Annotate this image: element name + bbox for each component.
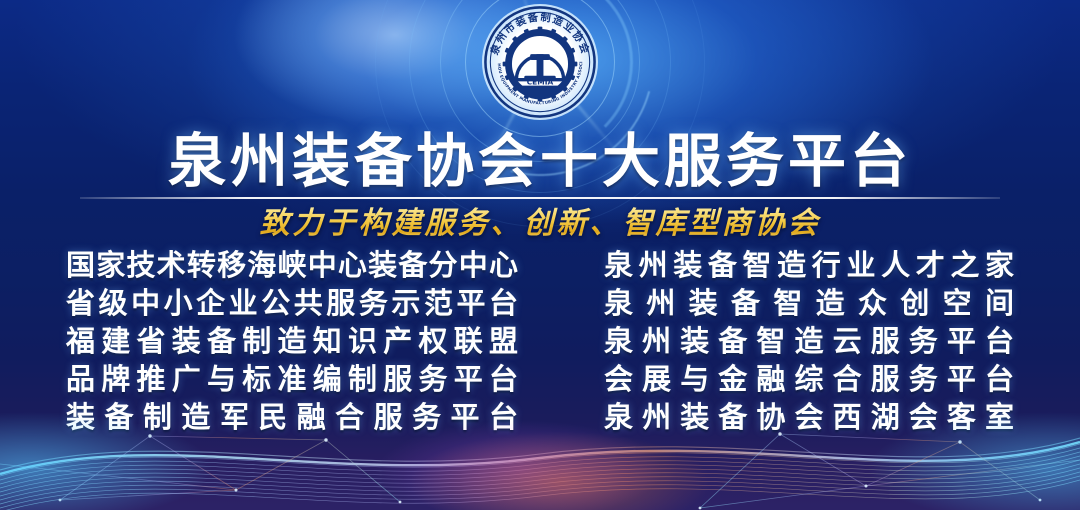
page-subtitle: 致力于构建服务、创新、智库型商协会 (0, 205, 1080, 243)
title-block: 泉州装备协会十大服务平台 致力于构建服务、创新、智库型商协会 (0, 131, 1080, 243)
list-item: 国家技术转移海峡中心装备分中心 (66, 247, 518, 285)
platform-column-right: 泉州装备智造行业人才之家 泉州装备智造众创空间 泉州装备智造云服务平台 会展与金… (604, 247, 1014, 437)
list-item: 泉州装备智造行业人才之家 (604, 247, 1014, 285)
list-item: 会展与金融综合服务平台 (604, 361, 1014, 399)
platform-list: 国家技术转移海峡中心装备分中心 省级中小企业公共服务示范平台 福建省装备制造知识… (0, 247, 1080, 437)
poster-canvas: 泉州市装备制造业协会 QUANZHOU EQUIPMENT MANUFACTUR… (0, 0, 1080, 510)
title-underline (80, 197, 1000, 199)
list-item: 福建省装备制造知识产权联盟 (66, 323, 518, 361)
list-item: 泉州装备协会西湖会客室 (604, 399, 1014, 437)
svg-text:CEMIA: CEMIA (527, 78, 554, 87)
list-item: 泉州装备智造云服务平台 (604, 323, 1014, 361)
platform-column-left: 国家技术转移海峡中心装备分中心 省级中小企业公共服务示范平台 福建省装备制造知识… (66, 247, 518, 437)
list-item: 品牌推广与标准编制服务平台 (66, 361, 518, 399)
list-item: 省级中小企业公共服务示范平台 (66, 285, 518, 323)
list-item: 装备制造军民融合服务平台 (66, 399, 518, 437)
list-item: 泉州装备智造众创空间 (604, 285, 1014, 323)
association-emblem-icon: 泉州市装备制造业协会 QUANZHOU EQUIPMENT MANUFACTUR… (481, 3, 599, 121)
page-title: 泉州装备协会十大服务平台 (0, 131, 1080, 193)
